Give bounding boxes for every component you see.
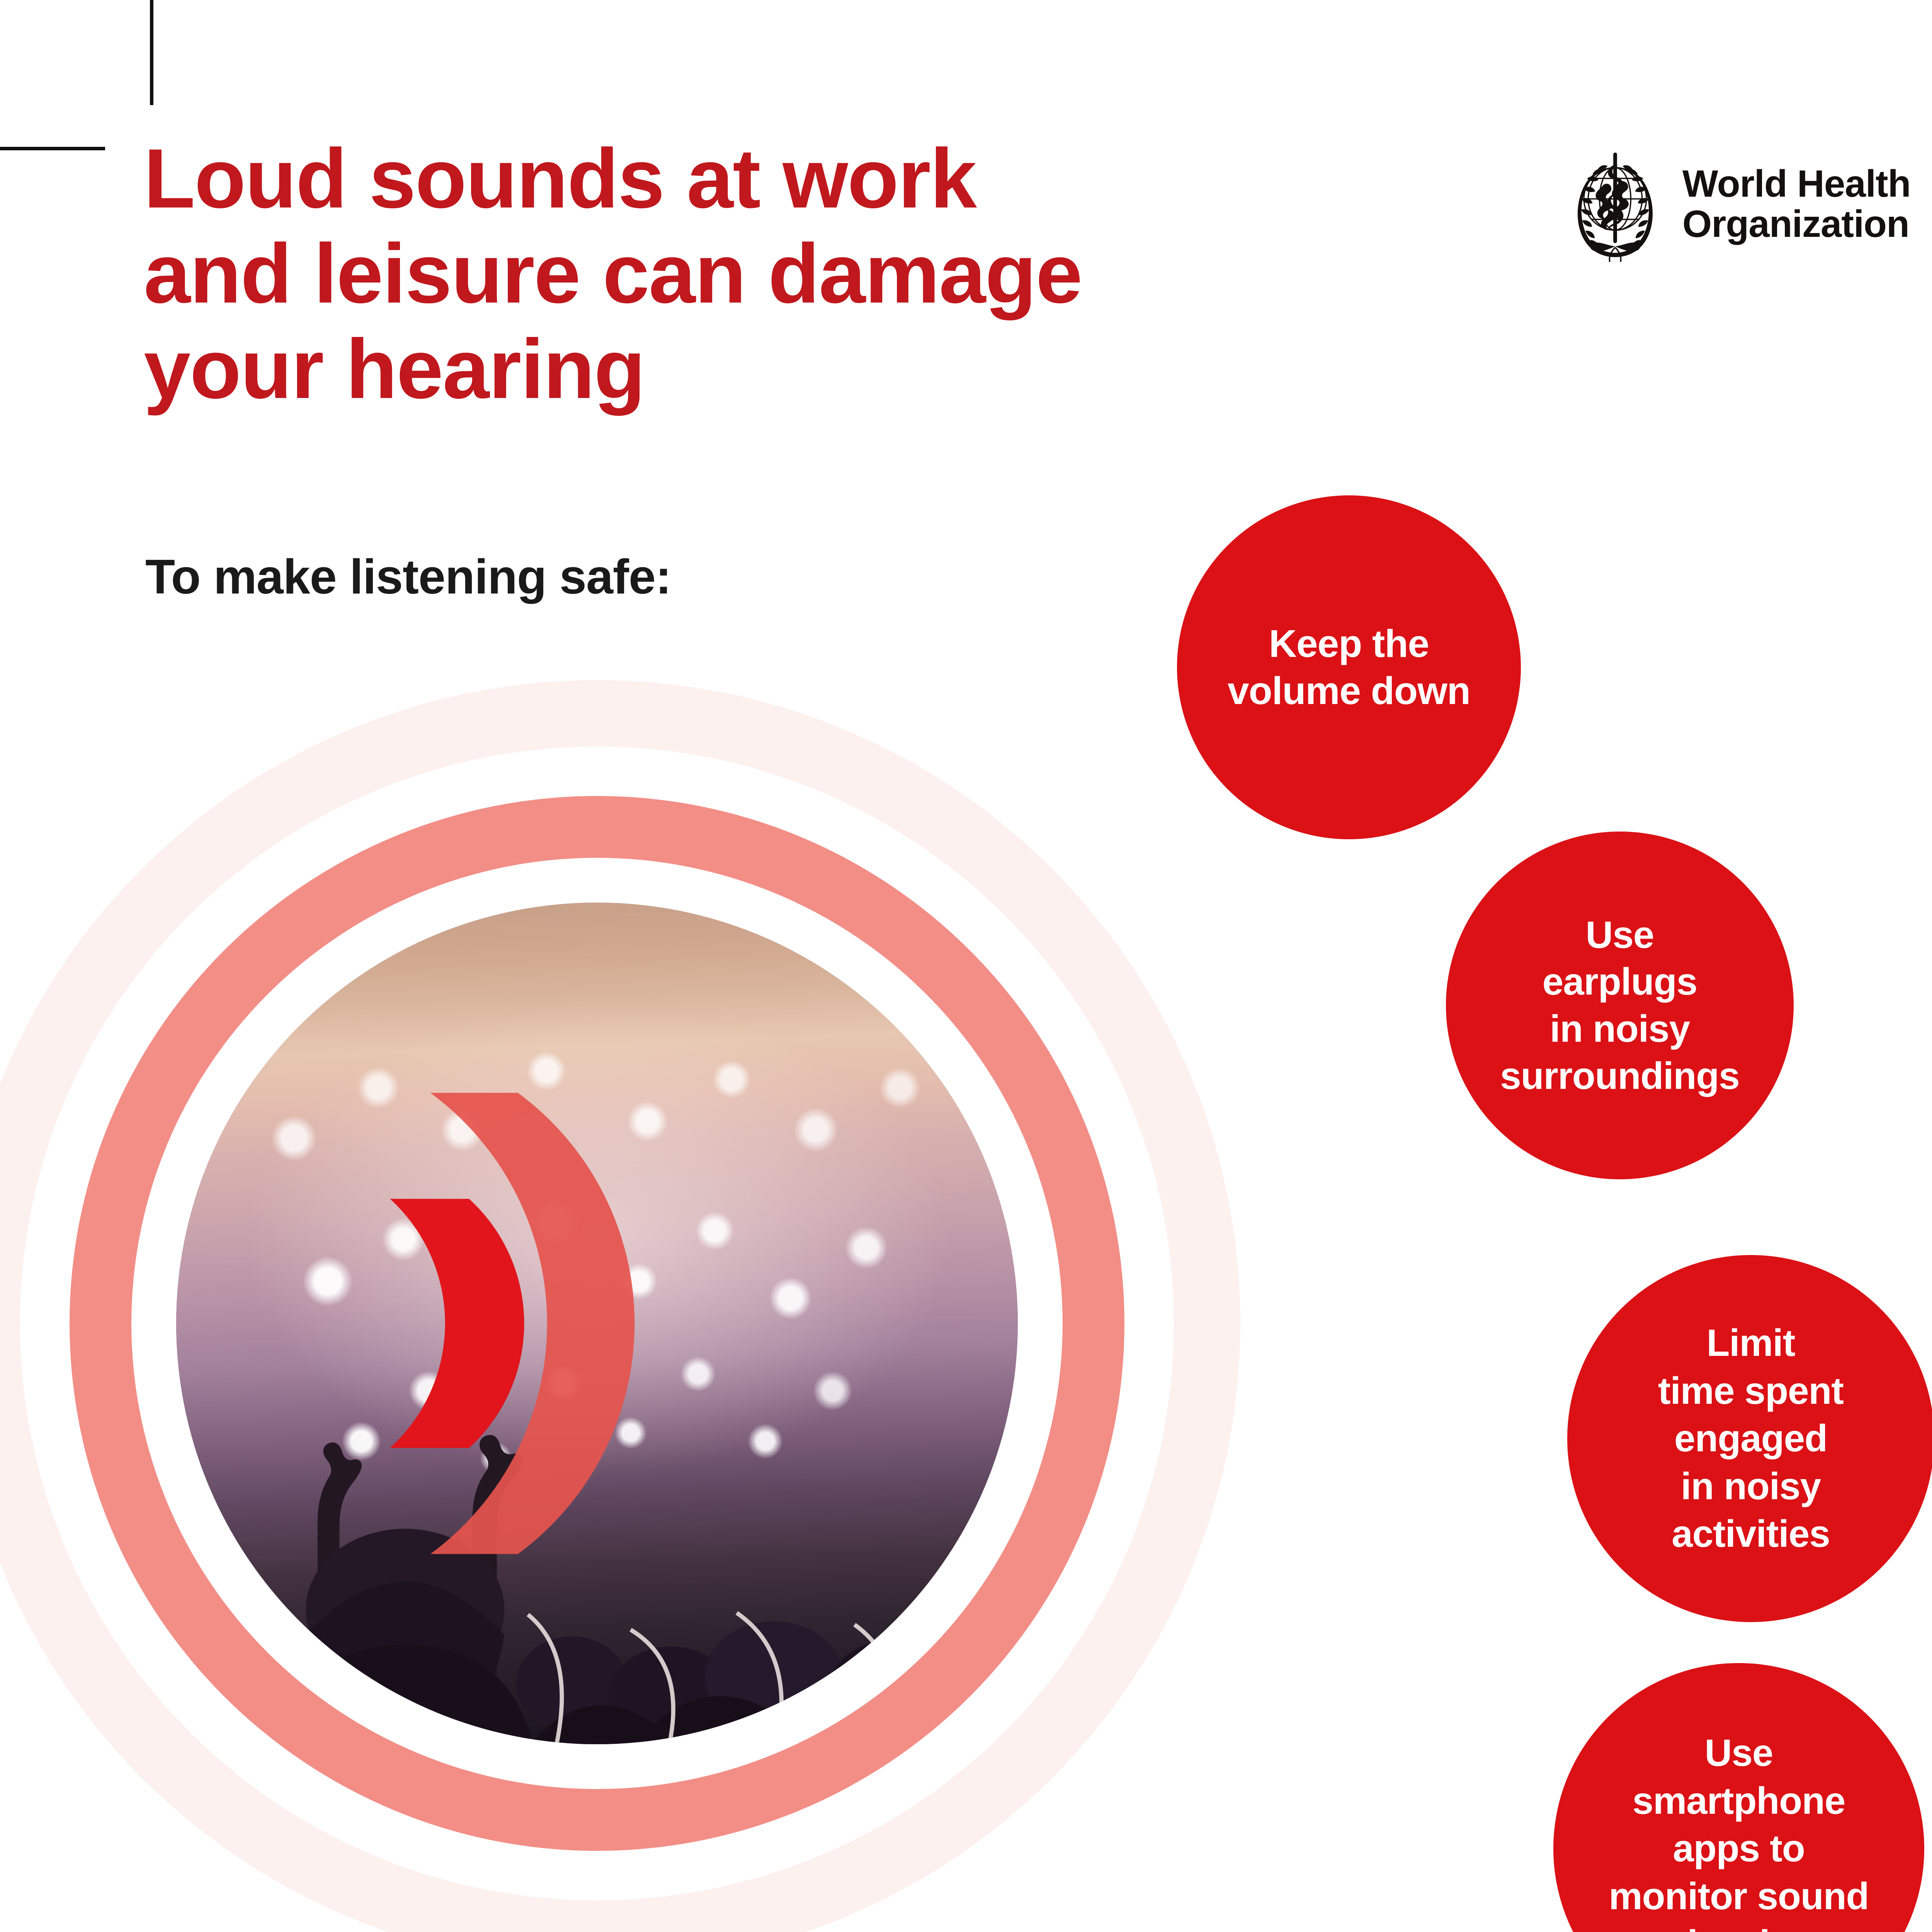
who-wordmark-line-2: Organization [1682,204,1911,244]
poster-canvas: Loud sounds at work and leisure can dama… [0,0,1932,1932]
tip-text: Use earplugs in noisy surroundings [1479,912,1760,1099]
tip-bubble-keep-volume-down[interactable]: Keep the volume down [1177,495,1521,839]
headline-line-2: and leisure can damage [144,226,1264,321]
tip-line: apps to [1609,1825,1869,1872]
tip-line: activities [1658,1510,1844,1558]
tip-line: surroundings [1500,1053,1740,1100]
tip-bubble-limit-time[interactable]: Limit time spent engaged in noisy activi… [1567,1255,1932,1622]
who-logo: World Health Organization [1561,146,1911,262]
headline-line-3: your hearing [144,322,1264,417]
tip-line: in noisy [1500,1005,1740,1053]
tip-line: Use [1609,1729,1869,1777]
tip-line: Limit [1658,1319,1844,1367]
tip-line: monitor sound [1609,1872,1869,1920]
tip-line: in noisy [1658,1463,1844,1510]
crowd-silhouettes [176,1357,1018,1744]
crop-mark-top-left-h [0,147,105,150]
tip-text: Use smartphone apps to monitor sound lev… [1587,1729,1891,1932]
who-emblem-icon [1561,146,1669,262]
crop-mark-top-left-v [150,0,153,105]
tip-bubble-use-earplugs[interactable]: Use earplugs in noisy surroundings [1446,832,1794,1179]
concert-crowd-photo [176,903,1018,1744]
who-wordmark: World Health Organization [1682,164,1911,244]
tip-line: Keep the [1228,620,1470,667]
tip-line: smartphone [1609,1777,1869,1825]
tip-line: earplugs [1500,958,1740,1005]
tip-text: Limit time spent engaged in noisy activi… [1636,1319,1866,1558]
tip-text: Keep the volume down [1207,620,1491,714]
page-title: Loud sounds at work and leisure can dama… [144,131,1264,417]
tip-line: levels [1609,1920,1869,1932]
subheading: To make listening safe: [145,549,671,605]
hero-artwork [0,680,1240,1932]
tip-line: time spent [1658,1367,1844,1415]
who-wordmark-line-1: World Health [1682,164,1911,204]
tip-line: volume down [1228,667,1470,714]
tip-line: Use [1500,912,1740,959]
tip-bubble-use-smartphone-apps[interactable]: Use smartphone apps to monitor sound lev… [1553,1663,1924,1932]
headline-line-1: Loud sounds at work [144,131,1264,226]
tip-line: engaged [1658,1415,1844,1462]
